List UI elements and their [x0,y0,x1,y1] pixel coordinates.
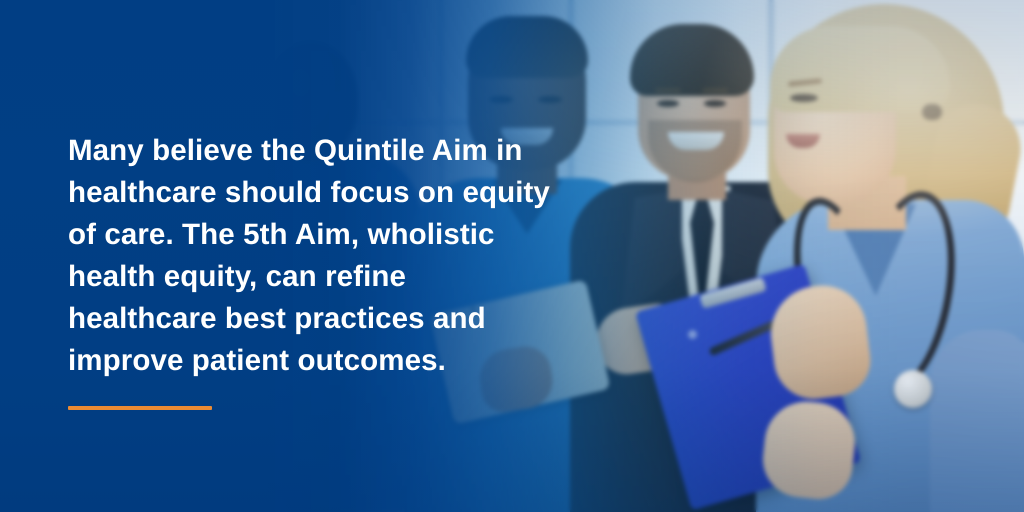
clipboard-hole [688,330,697,339]
male-nurse-eye-right [538,96,562,103]
headline-line: health equity, can refine [68,256,508,298]
headline-line: improve patient outcomes. [68,340,508,382]
male-nurse-eye-left [489,96,513,103]
female-nurse-hair-tie [922,104,942,120]
businessman-brow-right [702,88,728,93]
businessman-eye-right [704,100,726,107]
male-nurse-hair [466,16,588,78]
headline-line: of care. The 5th Aim, wholistic [68,214,508,256]
stethoscope-chestpiece-icon [894,370,932,408]
healthcare-quintile-aim-banner: Many believe the Quintile Aim in healthc… [0,0,1024,512]
headline-line: healthcare should focus on equity [68,172,508,214]
female-nurse-eye [790,94,818,102]
headline-line: Many believe the Quintile Aim in [68,130,508,172]
female-nurse-arm [930,330,1024,512]
accent-underline-rule [68,406,212,410]
businessman-brow-left [655,88,681,93]
businessman-eye-left [657,100,679,107]
headline-line: healthcare best practices and [68,298,508,340]
page-title: Many believe the Quintile Aim in healthc… [68,130,508,382]
text-block: Many believe the Quintile Aim in healthc… [68,130,508,410]
